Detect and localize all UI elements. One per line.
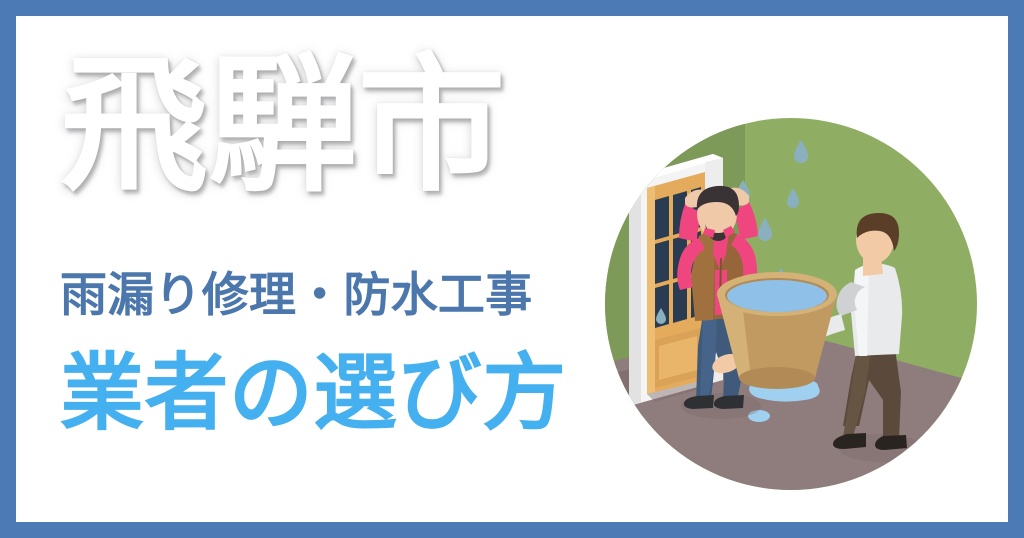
bucket-water	[727, 280, 827, 312]
banner-card: 飛騨市 雨漏り修理・防水工事 業者の選び方	[16, 16, 1008, 522]
door-pane-1	[655, 196, 669, 240]
door-slab-highlight	[647, 186, 655, 394]
subtitle: 雨漏り修理・防水工事	[60, 268, 600, 323]
tagline: 業者の選び方	[60, 346, 600, 440]
door-casing-edge	[629, 178, 641, 406]
door-pane-2	[655, 240, 669, 284]
headline-text-block: 飛騨市 雨漏り修理・防水工事 業者の選び方	[16, 16, 616, 522]
bucket-base	[739, 367, 815, 389]
page-title: 飛騨市	[60, 51, 580, 202]
roof-leak-illustration	[605, 118, 977, 490]
roof-leak-illustration-svg	[605, 118, 977, 490]
scene-group	[605, 118, 977, 490]
banner-root: 飛騨市 雨漏り修理・防水工事 業者の選び方	[0, 0, 1024, 538]
